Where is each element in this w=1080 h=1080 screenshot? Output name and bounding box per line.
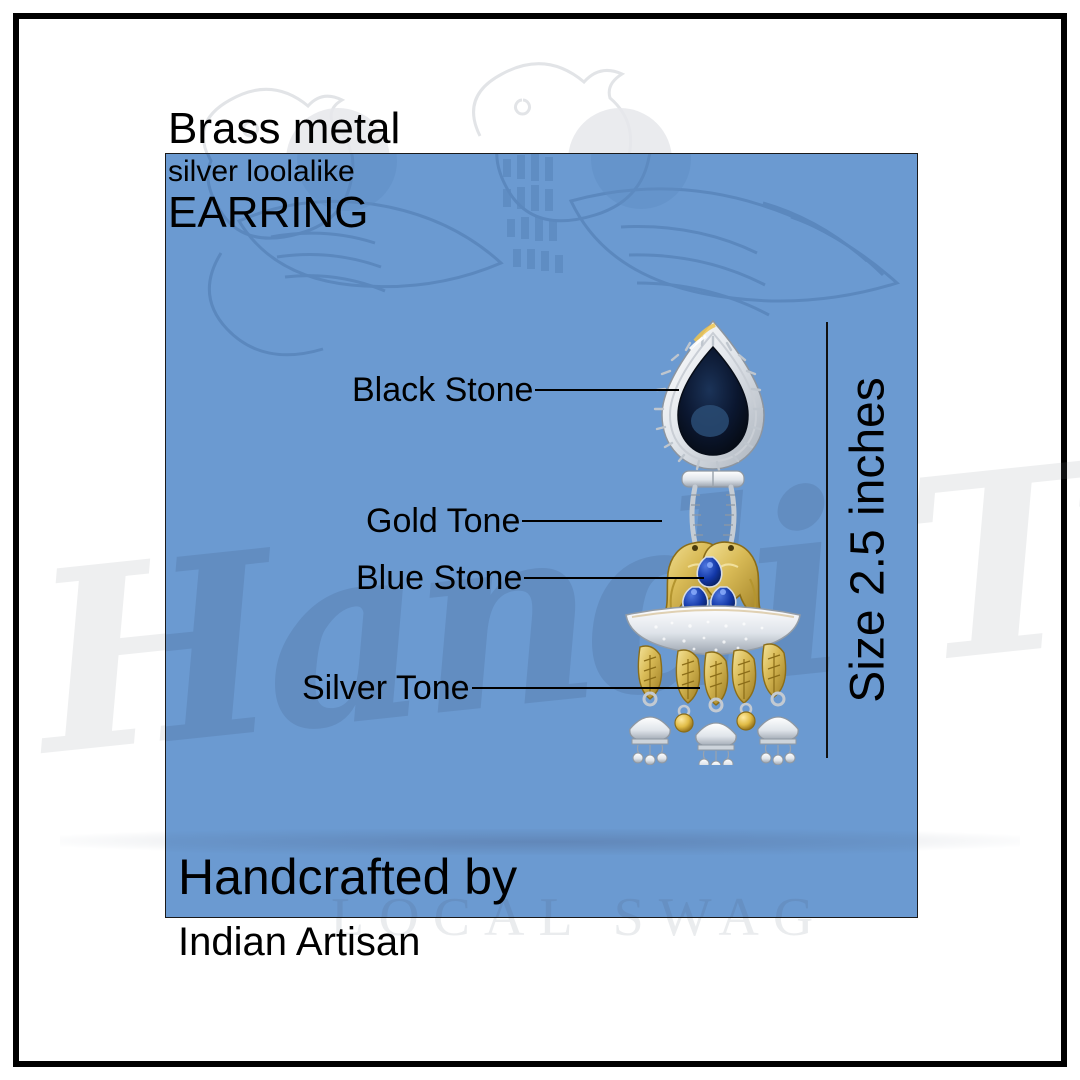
headline-subtitle: silver loolalike xyxy=(168,155,355,189)
size-label-text: Size 2.5 inches xyxy=(841,377,896,703)
connector-bar xyxy=(682,471,744,487)
callout-leader-line xyxy=(535,389,679,391)
callout-label-gold-tone: Gold Tone xyxy=(366,504,520,538)
callout-label-blue-stone: Blue Stone xyxy=(356,561,522,595)
callout-leader-line xyxy=(524,577,704,579)
callout-label-silver-tone: Silver Tone xyxy=(302,671,470,705)
callout-label-black-stone: Black Stone xyxy=(352,373,533,407)
headline-product: EARRING xyxy=(168,188,368,238)
callout-leader-line xyxy=(522,520,662,522)
callout-black-stone: Black Stone xyxy=(352,373,679,407)
callout-blue-stone: Blue Stone xyxy=(356,561,704,595)
size-label: Size 2.5 inches xyxy=(838,330,898,750)
footer-line-1: Handcrafted by xyxy=(178,848,517,906)
product-infographic: Handi Trades LOCAL SWAG xyxy=(0,0,1080,1080)
size-measure-line xyxy=(826,322,828,758)
headline-material: Brass metal xyxy=(168,104,400,154)
callout-silver-tone: Silver Tone xyxy=(302,671,700,705)
footer-line-2: Indian Artisan xyxy=(178,920,420,965)
callout-gold-tone: Gold Tone xyxy=(366,504,662,538)
callout-leader-line xyxy=(472,687,700,689)
